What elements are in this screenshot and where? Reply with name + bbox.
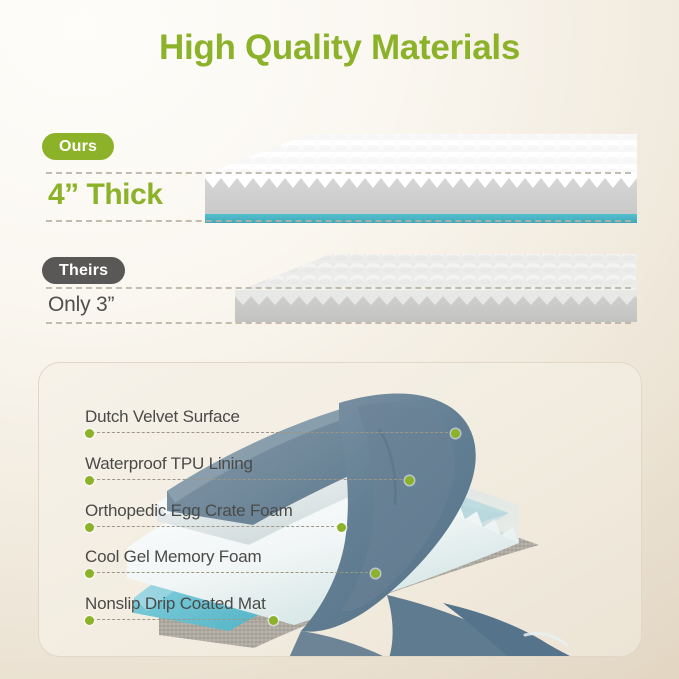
layers-panel: Dutch Velvet Surface Waterproof TPU Lini…: [38, 362, 642, 657]
ours-mattress-illustration: [205, 128, 637, 224]
feature-label: Nonslip Drip Coated Mat: [85, 594, 266, 614]
leader-line: [87, 432, 453, 433]
leader-dot-start: [85, 429, 94, 438]
leader-line: [87, 479, 407, 480]
feature-label: Waterproof TPU Lining: [85, 454, 253, 474]
feature-label: Orthopedic Egg Crate Foam: [85, 501, 293, 521]
infographic-poster: High Quality Materials: [0, 0, 679, 679]
page-title: High Quality Materials: [0, 28, 679, 68]
leader-dot-end: [371, 569, 380, 578]
leader-dot-end: [337, 523, 346, 532]
badge-theirs: Theirs: [42, 257, 125, 284]
ours-measure-guide-top: [46, 172, 631, 174]
leader-line: [87, 526, 339, 527]
theirs-measure-guide-top: [46, 287, 631, 289]
leader-dot-end: [451, 429, 460, 438]
comparison-section: Ours Theirs 4” Thick Only 3”: [0, 110, 679, 345]
ours-measure-guide-bottom: [46, 220, 631, 222]
leader-dot-start: [85, 569, 94, 578]
leader-dot-start: [85, 476, 94, 485]
theirs-thickness-label: Only 3”: [48, 293, 114, 317]
leader-line: [87, 572, 373, 573]
leader-dot-end: [269, 616, 278, 625]
badge-ours: Ours: [42, 133, 114, 160]
leader-dot-start: [85, 616, 94, 625]
feature-label: Dutch Velvet Surface: [85, 407, 240, 427]
leader-dot-start: [85, 523, 94, 532]
leader-dot-end: [405, 476, 414, 485]
leader-line: [87, 619, 271, 620]
theirs-measure-guide-bottom: [46, 322, 631, 324]
ours-thickness-label: 4” Thick: [48, 178, 162, 212]
feature-label: Cool Gel Memory Foam: [85, 547, 261, 567]
